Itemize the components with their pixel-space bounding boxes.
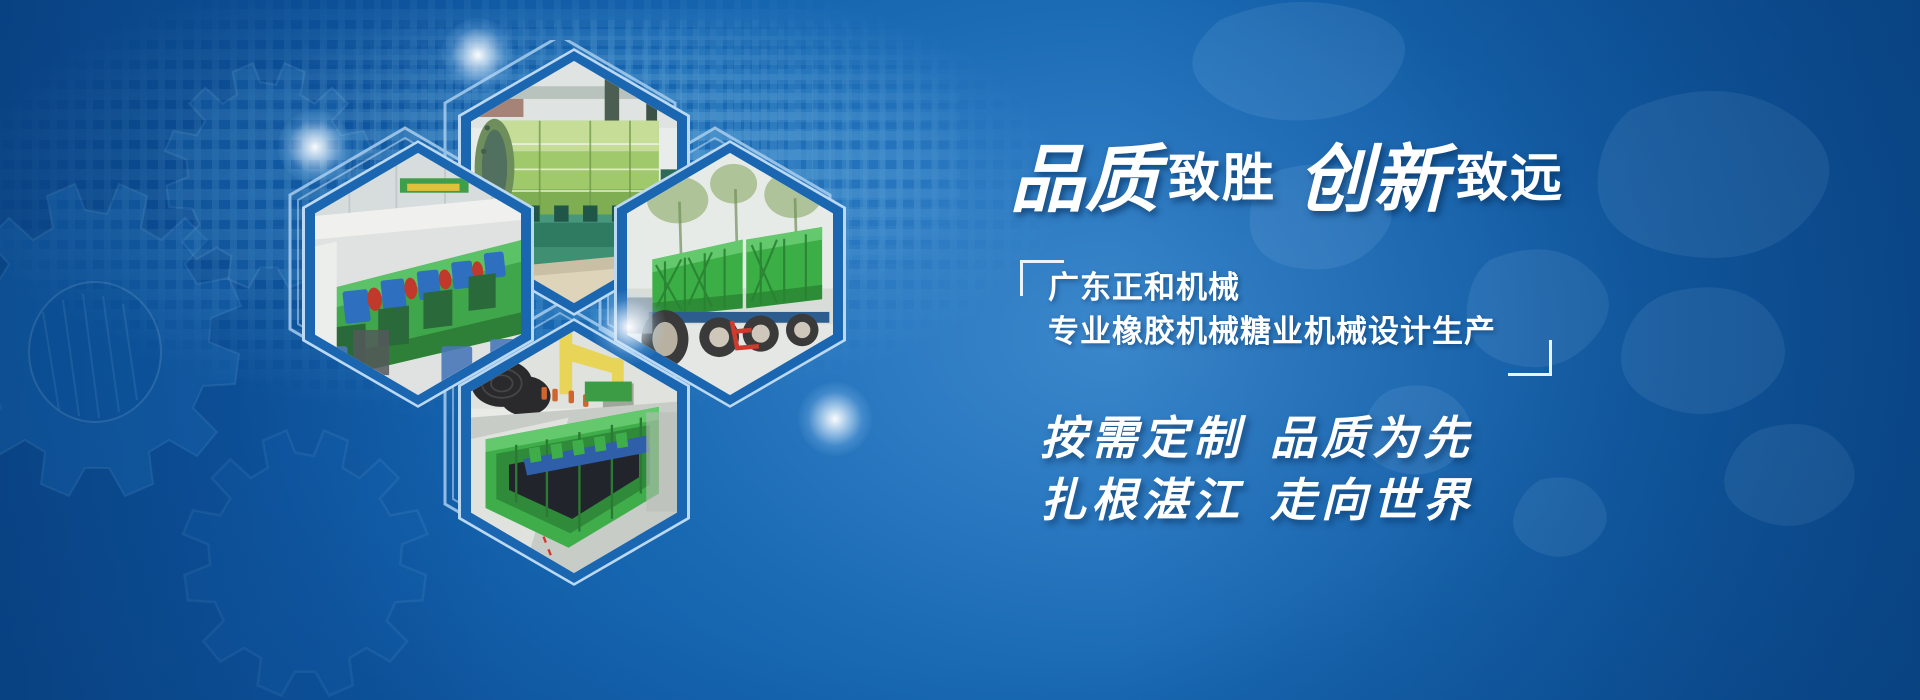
slogan-line2: 扎根湛江走向世界 [1040, 470, 1474, 532]
subtitle: 广东正和机械 专业橡胶机械糖业机械设计生产 [1048, 266, 1496, 354]
headline-part2-big: 创新 [1298, 137, 1448, 223]
headline-part1-big: 品质 [1010, 137, 1160, 223]
subtitle-line2: 专业橡胶机械糖业机械设计生产 [1048, 310, 1496, 354]
bracket-bottom-right-icon [1508, 340, 1552, 376]
hexagon-photo-cluster [150, 0, 990, 700]
headline: 品质致胜创新致远 [1010, 120, 1586, 227]
slogan-line2-right: 走向世界 [1270, 473, 1474, 527]
slogan-line1-left: 按需定制 [1040, 411, 1244, 465]
banner-text-block: 品质致胜创新致远 广东正和机械 专业橡胶机械糖业机械设计生产 按需定制品质为先 … [1020, 120, 1580, 590]
slogan-line2-left: 扎根湛江 [1040, 473, 1244, 527]
promo-banner: 品质致胜创新致远 广东正和机械 专业橡胶机械糖业机械设计生产 按需定制品质为先 … [0, 0, 1920, 700]
subtitle-line1: 广东正和机械 [1048, 266, 1496, 310]
slogan-line1-right: 品质为先 [1270, 411, 1474, 465]
slogan-block: 按需定制品质为先 扎根湛江走向世界 [1040, 408, 1474, 531]
headline-part1-small: 致胜 [1168, 149, 1276, 209]
headline-part2-small: 致远 [1456, 149, 1564, 209]
subtitle-block: 广东正和机械 专业橡胶机械糖业机械设计生产 [1020, 260, 1520, 376]
slogan-line1: 按需定制品质为先 [1040, 408, 1474, 470]
